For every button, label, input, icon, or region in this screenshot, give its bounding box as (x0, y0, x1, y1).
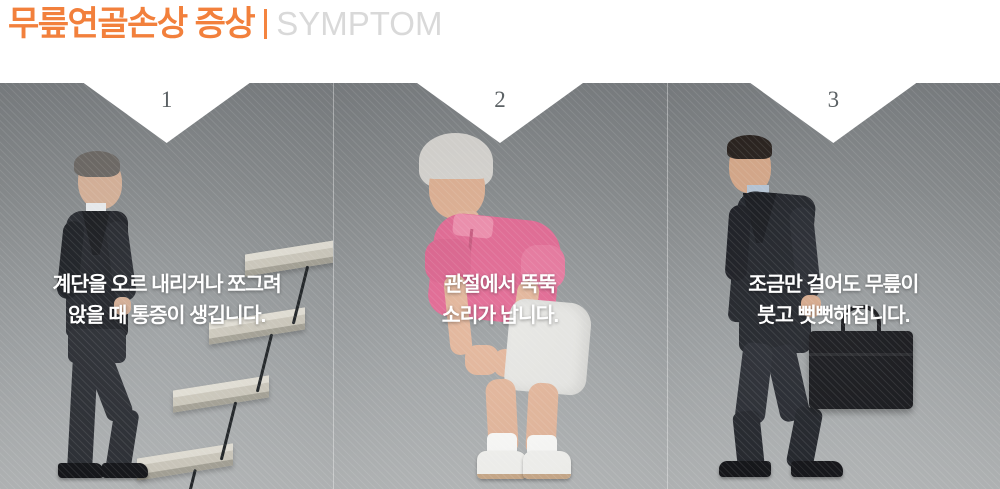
caption-line-1: 관절에서 뚝뚝 (333, 269, 666, 300)
page-header: 무릎연골손상 증상 SYMPTOM (0, 0, 1000, 83)
panel-number-1: 1 (84, 87, 250, 113)
symptom-panel-1[interactable]: 1 계단을 오르 내리거나 쪼그려 앉을 때 통증이 생깁니다. (0, 83, 333, 489)
page-title-korean: 무릎연골손상 증상 (8, 4, 254, 44)
caption-line-1: 조금만 걸어도 무릎이 (667, 269, 1000, 300)
panel-number-3: 3 (750, 87, 916, 113)
panel-number-badge-1: 1 (84, 83, 250, 143)
panel-caption-3: 조금만 걸어도 무릎이 붓고 뻣뻣해집니다. (667, 269, 1000, 331)
title-divider-bar (264, 9, 267, 39)
panel-number-badge-3: 3 (750, 83, 916, 143)
caption-line-2: 붓고 뻣뻣해집니다. (667, 300, 1000, 331)
panel-caption-2: 관절에서 뚝뚝 소리가 납니다. (333, 269, 666, 331)
panel-number-badge-2: 2 (417, 83, 583, 143)
symptom-panel-strip: 1 계단을 오르 내리거나 쪼그려 앉을 때 통증이 생깁니다. (0, 83, 1000, 489)
briefcase-icon (809, 331, 913, 409)
panel-caption-1: 계단을 오르 내리거나 쪼그려 앉을 때 통증이 생깁니다. (0, 269, 333, 331)
panel-number-2: 2 (417, 87, 583, 113)
caption-line-1: 계단을 오르 내리거나 쪼그려 (0, 269, 333, 300)
symptom-panel-2[interactable]: 2 관절에서 뚝뚝 소리가 납니다. (333, 83, 666, 489)
caption-line-2: 소리가 납니다. (333, 300, 666, 331)
symptom-panel-3[interactable]: 3 조금만 걸어도 무릎이 붓고 뻣뻣해집니다. (667, 83, 1000, 489)
header-title-group: 무릎연골손상 증상 SYMPTOM (8, 4, 442, 44)
caption-line-2: 앉을 때 통증이 생깁니다. (0, 300, 333, 331)
page-title-english: SYMPTOM (276, 4, 442, 44)
